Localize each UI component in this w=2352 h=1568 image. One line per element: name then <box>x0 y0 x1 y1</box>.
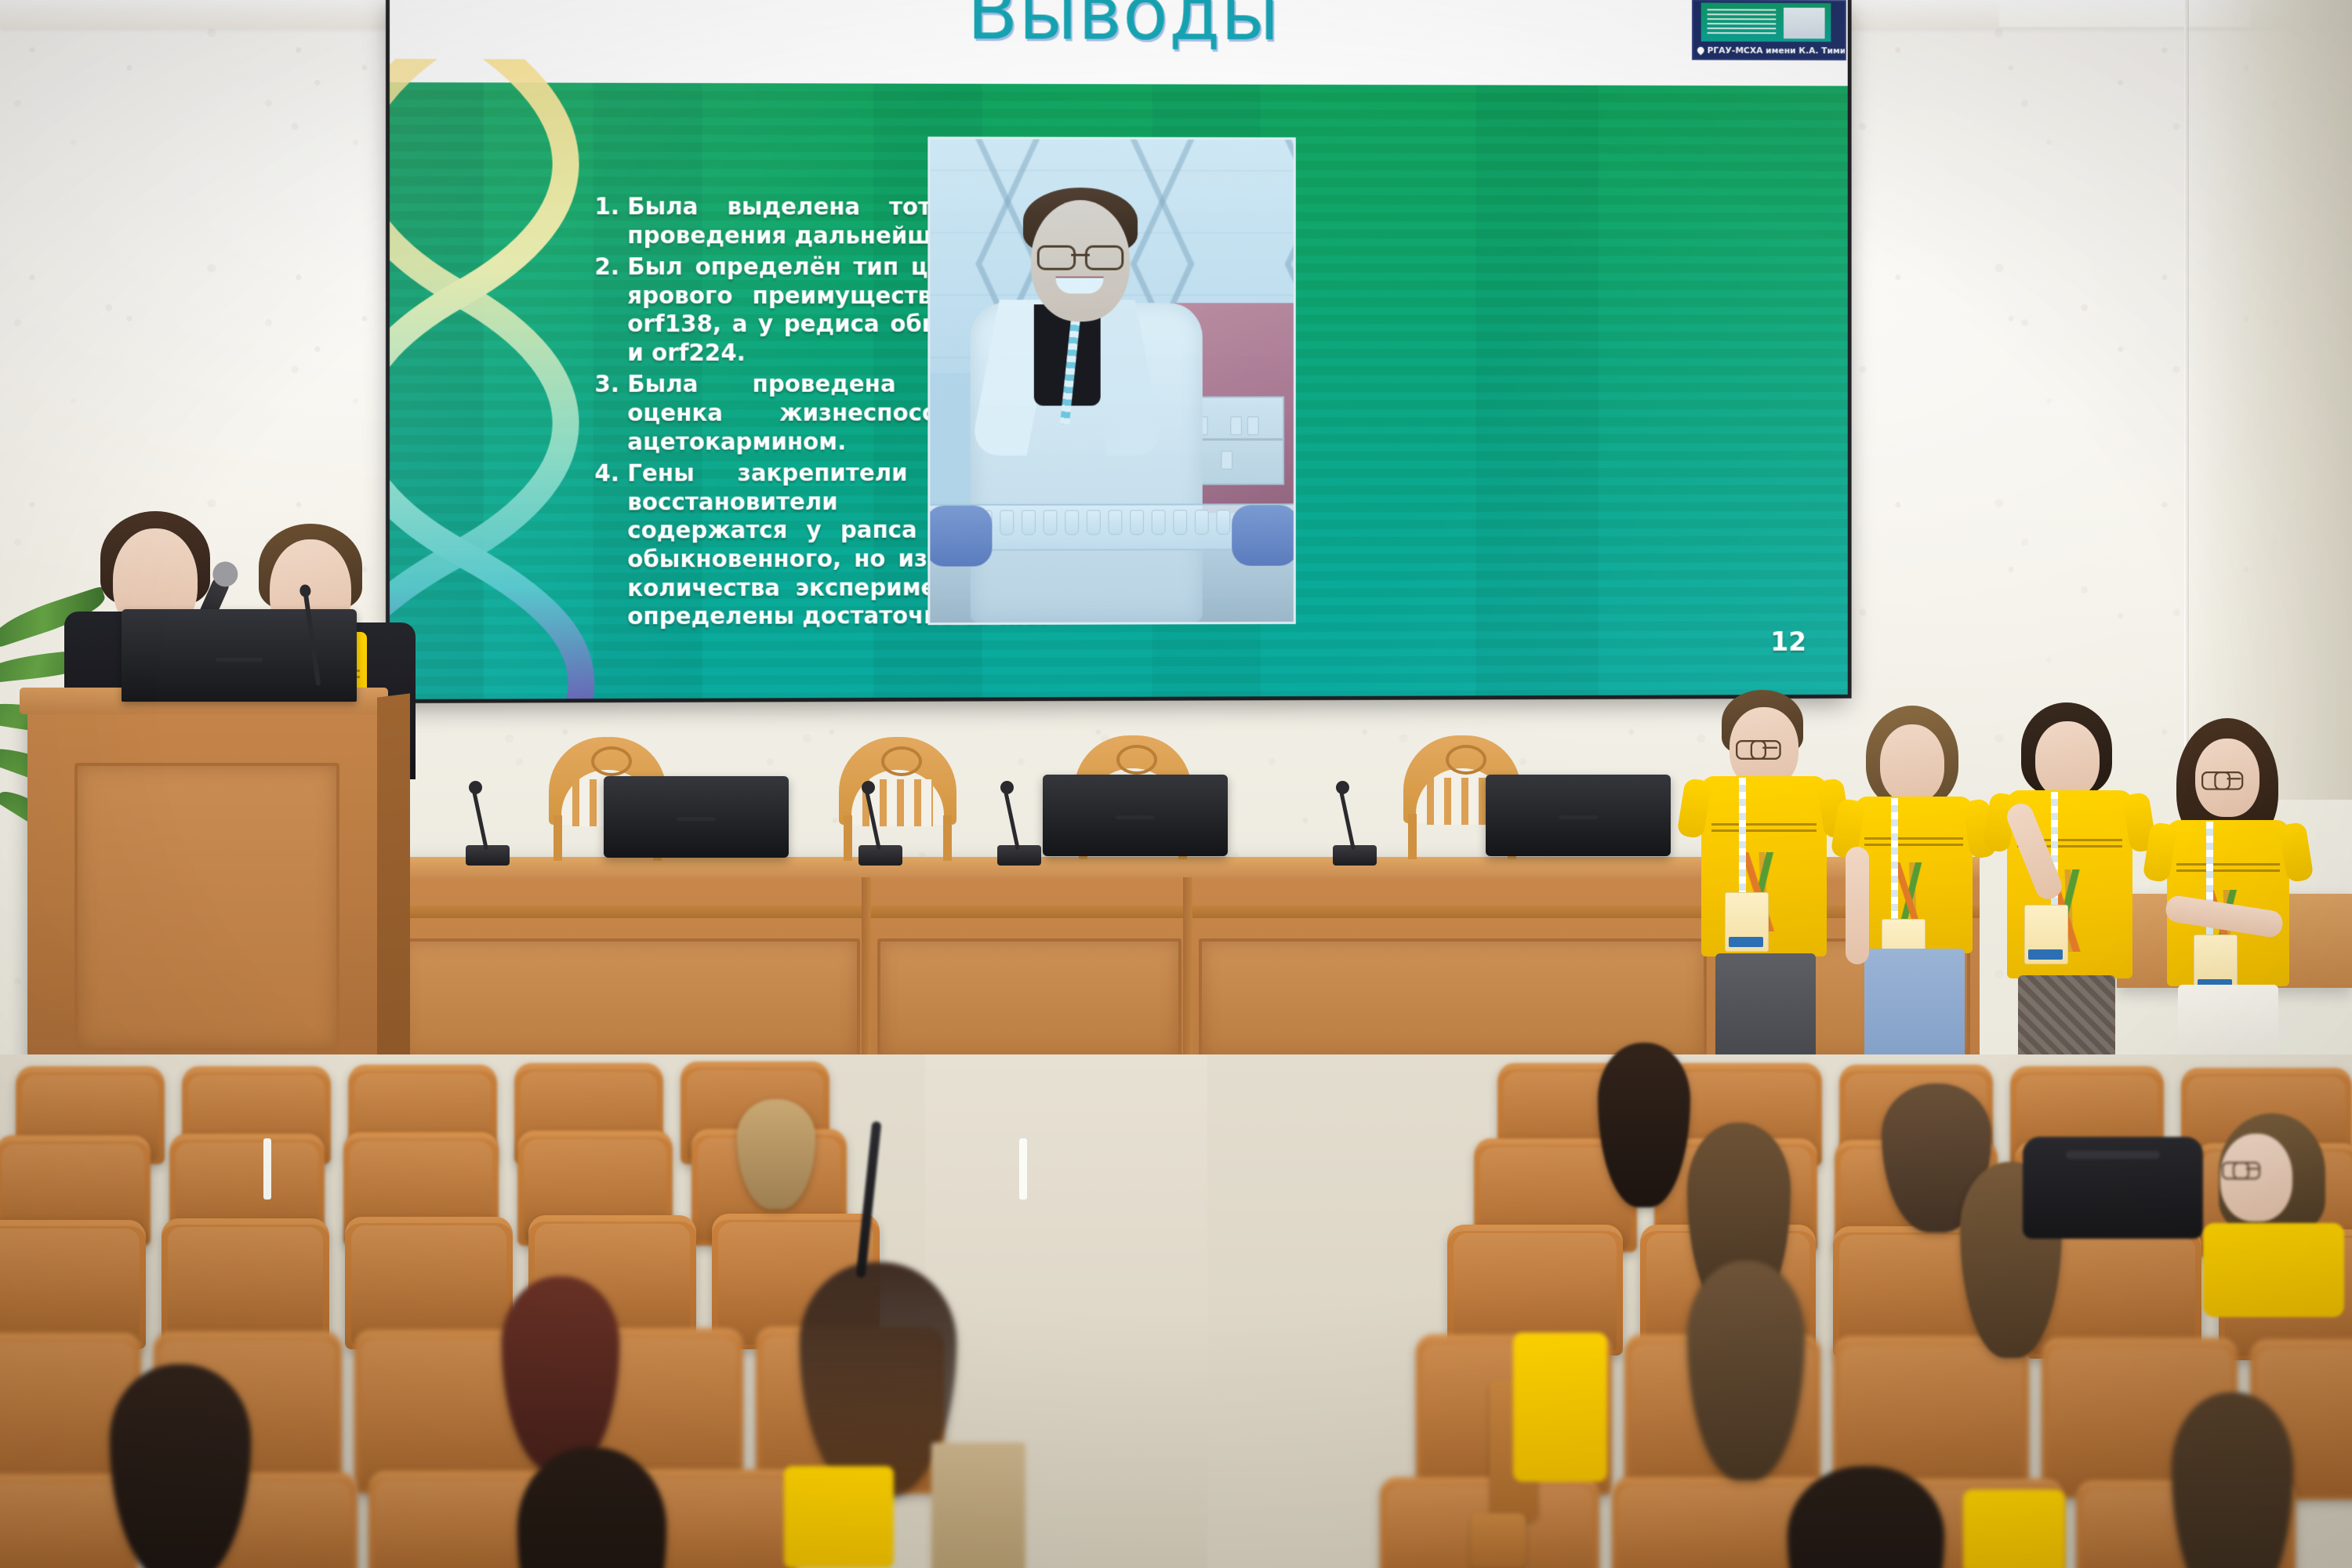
student-3-badge <box>2024 905 2068 964</box>
student-2-lanyard <box>1891 798 1898 924</box>
lectern <box>27 702 380 1062</box>
stream-thumbnail-caption-bar: РГАУ-МСХА имени К.А. Тимир <box>1693 42 1846 59</box>
student-1-badge <box>1725 892 1769 952</box>
presidium-monitor <box>1043 775 1228 856</box>
audience-yellow-shirt <box>1963 1490 2065 1568</box>
audience-head <box>2172 1392 2293 1568</box>
presidium-desk-top <box>382 857 1730 877</box>
student-2-arm <box>1846 847 1869 964</box>
glasses-icon <box>2201 771 2243 782</box>
seat-armrest <box>1471 1513 1526 1568</box>
stream-thumbnail-photo <box>1784 8 1825 39</box>
audience-head <box>110 1364 251 1568</box>
seat[interactable] <box>0 1220 146 1349</box>
slide-body: Была выделена тотальная ДНК для проведен… <box>390 82 1848 699</box>
wall-corner <box>2184 0 2189 792</box>
slide-number: 12 <box>1770 626 1806 658</box>
presidium-panel <box>877 938 1181 1062</box>
presidium-seam <box>862 877 871 1062</box>
wall-right-return <box>2187 0 2352 800</box>
presidium-desk <box>382 857 1730 1062</box>
student-3-head <box>2035 721 2100 798</box>
audience-yellow-shirt <box>1513 1333 1607 1482</box>
slide-lab-photo <box>927 136 1295 625</box>
presidium-chair[interactable] <box>839 737 956 855</box>
glasses-icon <box>1736 740 1781 751</box>
student-1 <box>1695 690 1867 1066</box>
seat[interactable] <box>162 1218 329 1349</box>
seated-student <box>2197 1113 2352 1294</box>
conference-hall-scene: Выводы <box>0 0 2352 1568</box>
student-4 <box>2161 718 2333 1087</box>
stream-thumbnail-caption: РГАУ-МСХА имени К.А. Тимир <box>1708 45 1846 55</box>
stream-thumbnail-text-lines <box>1708 9 1777 37</box>
presidium-monitor <box>1486 775 1671 856</box>
seat-tag <box>263 1138 271 1200</box>
slide-title: Выводы <box>390 0 1848 59</box>
student-2 <box>1847 706 2012 1074</box>
student-2-head <box>1880 724 1944 803</box>
lectern-monitor <box>122 609 357 702</box>
lectern-panel <box>74 763 339 1051</box>
pin-icon <box>1696 45 1705 55</box>
glasses-icon <box>2222 1162 2260 1172</box>
presidium-monitor <box>604 776 789 858</box>
lectern-side <box>377 693 410 1065</box>
student-1-trousers <box>1715 953 1816 1071</box>
paper-bag <box>931 1443 1025 1568</box>
backpack <box>2023 1137 2203 1239</box>
presentation-slide: Выводы <box>390 0 1848 699</box>
projection-screen[interactable]: Выводы <box>390 0 1848 699</box>
stream-thumbnail-slide <box>1701 2 1831 42</box>
lab-photo-tint <box>930 139 1294 622</box>
presidium-seam <box>1183 877 1192 1062</box>
audience-yellow-shirt <box>784 1466 894 1568</box>
presidium-panel <box>399 938 860 1062</box>
presidium-rail <box>382 906 1730 918</box>
seated-student-tshirt <box>2203 1223 2344 1317</box>
stream-thumbnail[interactable]: РГАУ-МСХА имени К.А. Тимир <box>1692 0 1846 60</box>
student-3 <box>2002 702 2175 1079</box>
student-1-lanyard <box>1739 778 1746 895</box>
seat-tag <box>1019 1138 1027 1200</box>
